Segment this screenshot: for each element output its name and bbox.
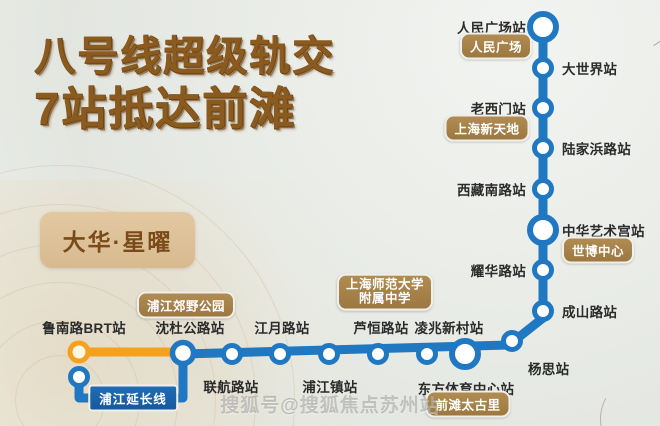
station-label-xizangnanlu[interactable]: 西藏南路站 bbox=[457, 179, 526, 199]
station-marker-luhenglu[interactable] bbox=[370, 346, 387, 363]
landmark-tag-line-2: 附属中学 bbox=[346, 292, 424, 306]
station-marker-laoximen[interactable] bbox=[535, 100, 552, 117]
station-marker-dongfangtiyuzhongxin[interactable] bbox=[452, 341, 478, 367]
station-marker-xizangnanlu[interactable] bbox=[535, 181, 552, 198]
station-marker-pujiangzhen[interactable] bbox=[321, 346, 338, 363]
landmark-tag-line-1: 上海师范大学 bbox=[346, 278, 424, 292]
landmark-tag-pujiangjiaoyegongyuan[interactable]: 浦江郊野公园 bbox=[137, 292, 235, 319]
station-marker-chengshanlu[interactable] bbox=[535, 303, 552, 320]
branch-line-ribbon[interactable]: 浦江延长线 bbox=[88, 385, 178, 412]
poster-canvas: 八号线超级轨交 7站抵达前滩 大华·星曜 bbox=[0, 0, 660, 426]
station-label-jiangyuelu[interactable]: 江月路站 bbox=[254, 317, 309, 337]
station-marker-dashijie[interactable] bbox=[535, 60, 552, 77]
station-label-yaohualu[interactable]: 耀华路站 bbox=[471, 260, 526, 280]
station-label-lingzhaoxincun[interactable]: 凌兆新村站 bbox=[415, 317, 484, 337]
station-marker-zhonghuayishugong[interactable] bbox=[530, 217, 556, 243]
station-label-lunanlu-brt[interactable]: 鲁南路BRT站 bbox=[42, 317, 126, 337]
landmark-tag-shishida-fuzhong[interactable]: 上海师范大学 附属中学 bbox=[337, 274, 433, 311]
station-label-pujiangzhen[interactable]: 浦江镇站 bbox=[302, 376, 357, 396]
landmark-tag-renminguangchang[interactable]: 人民广场 bbox=[460, 33, 532, 60]
station-marker-lunanlu-brt[interactable] bbox=[70, 343, 88, 361]
station-label-dashijie[interactable]: 大世界站 bbox=[562, 58, 617, 78]
station-marker-renminguangchang[interactable] bbox=[530, 14, 556, 40]
landmark-tag-shibozhongxin[interactable]: 世博中心 bbox=[562, 237, 634, 264]
station-label-luhenglu[interactable]: 芦恒路站 bbox=[353, 317, 408, 337]
station-marker-loop-end[interactable] bbox=[71, 369, 88, 386]
station-marker-lingzhaoxincun[interactable] bbox=[419, 346, 436, 363]
station-marker-lujiabanglu[interactable] bbox=[535, 140, 552, 157]
landmark-tag-qiantan-taikooli[interactable]: 前滩太古里 bbox=[425, 391, 510, 418]
station-label-chengshanlu[interactable]: 成山路站 bbox=[562, 301, 617, 321]
station-label-lujiabanglu[interactable]: 陆家浜路站 bbox=[562, 138, 631, 158]
landmark-tag-xintiandi[interactable]: 上海新天地 bbox=[444, 115, 529, 142]
station-marker-jiangyuelu[interactable] bbox=[272, 346, 289, 363]
station-label-lianhanglu[interactable]: 联航路站 bbox=[203, 376, 258, 396]
station-label-shendugonglu[interactable]: 沈杜公路站 bbox=[156, 317, 225, 337]
station-marker-lianhanglu[interactable] bbox=[224, 346, 241, 363]
station-marker-yaohualu[interactable] bbox=[535, 262, 552, 279]
station-marker-shendugonglu[interactable] bbox=[173, 343, 194, 364]
station-label-yangsi[interactable]: 杨思站 bbox=[528, 358, 569, 378]
station-marker-yangsi[interactable] bbox=[504, 333, 521, 350]
